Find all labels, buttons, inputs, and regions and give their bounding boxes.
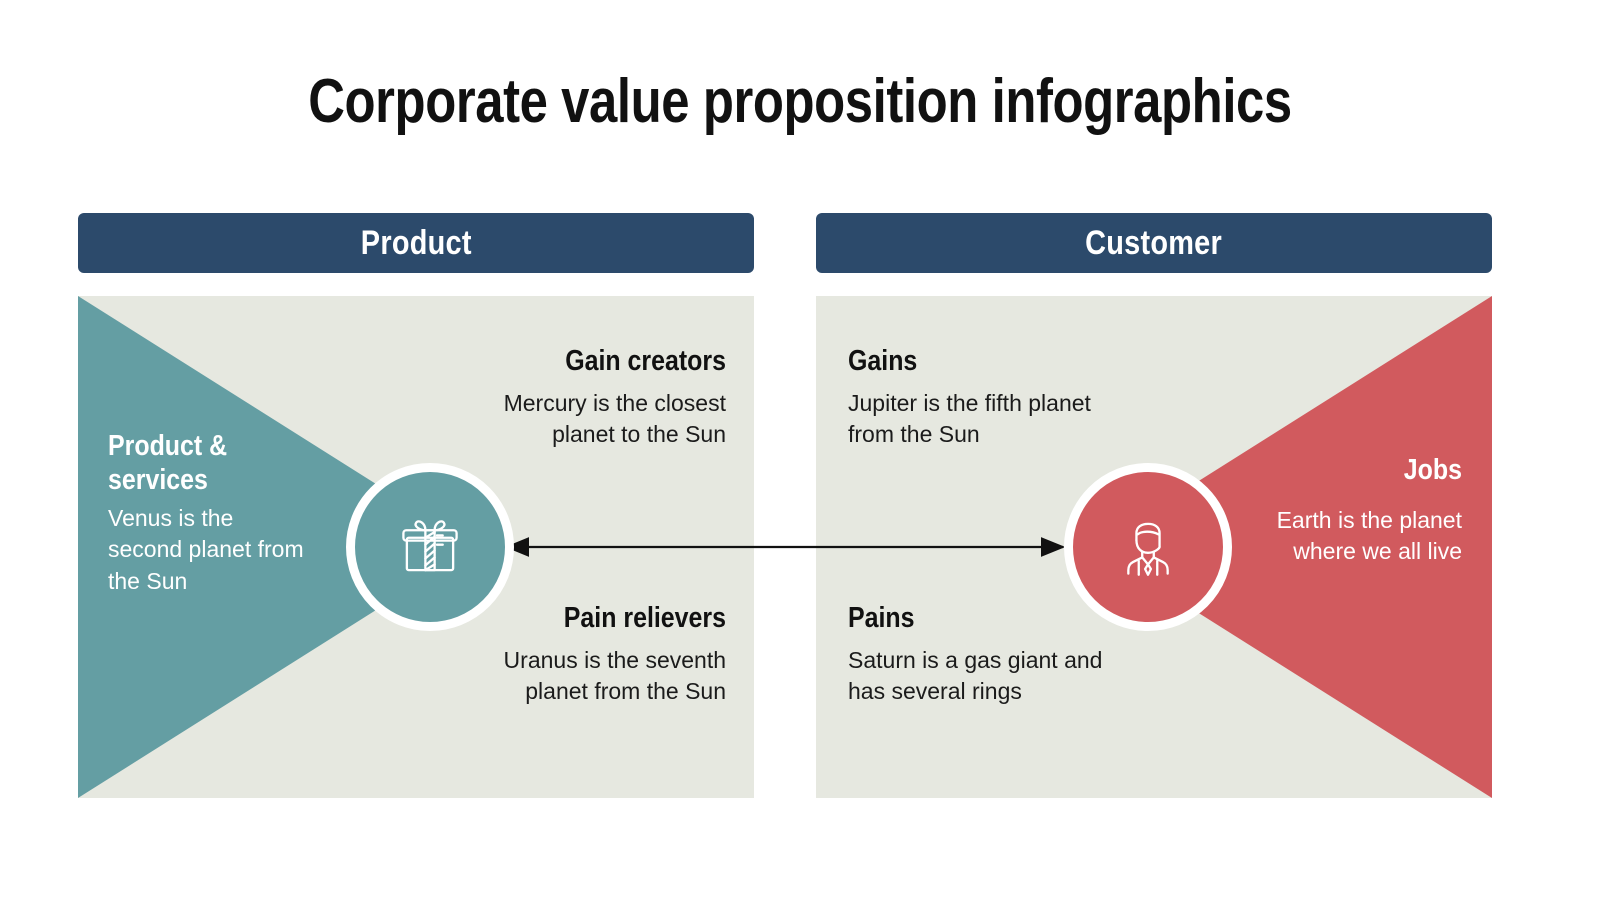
gains-title: Gains: [848, 346, 1078, 376]
pains-body: Saturn is a gas giant and has several ri…: [848, 645, 1116, 707]
gains-block: Gains Jupiter is the fifth planet from t…: [848, 346, 1116, 451]
pain-relievers-block: Pain relievers Uranus is the seventh pla…: [458, 603, 726, 708]
customer-header-label: Customer: [1086, 224, 1223, 263]
product-services-body: Venus is the second planet from the Sun: [108, 503, 308, 596]
jobs-body: Earth is the planet where we all live: [1262, 505, 1462, 567]
connector-arrow: [495, 522, 1075, 572]
jobs-block: Jobs Earth is the planet where we all li…: [1262, 453, 1462, 567]
pains-title: Pains: [848, 603, 1078, 633]
businessperson-icon: [1111, 510, 1185, 584]
gift-icon: [393, 510, 467, 584]
product-services-block: Product & services Venus is the second p…: [108, 429, 308, 597]
jobs-title: Jobs: [1290, 453, 1462, 487]
customer-header-bar[interactable]: Customer: [816, 213, 1492, 273]
product-header-bar[interactable]: Product: [78, 213, 754, 273]
page-title: Corporate value proposition infographics: [144, 66, 1456, 137]
gain-creators-title: Gain creators: [496, 346, 726, 376]
customer-node-circle[interactable]: [1064, 463, 1232, 631]
pain-relievers-body: Uranus is the seventh planet from the Su…: [458, 645, 726, 707]
pain-relievers-title: Pain relievers: [496, 603, 726, 633]
product-services-title: Product & services: [108, 429, 280, 497]
gain-creators-body: Mercury is the closest planet to the Sun: [458, 388, 726, 450]
product-header-label: Product: [361, 224, 472, 263]
gain-creators-block: Gain creators Mercury is the closest pla…: [458, 346, 726, 451]
product-node-circle[interactable]: [346, 463, 514, 631]
gains-body: Jupiter is the fifth planet from the Sun: [848, 388, 1116, 450]
pains-block: Pains Saturn is a gas giant and has seve…: [848, 603, 1116, 708]
